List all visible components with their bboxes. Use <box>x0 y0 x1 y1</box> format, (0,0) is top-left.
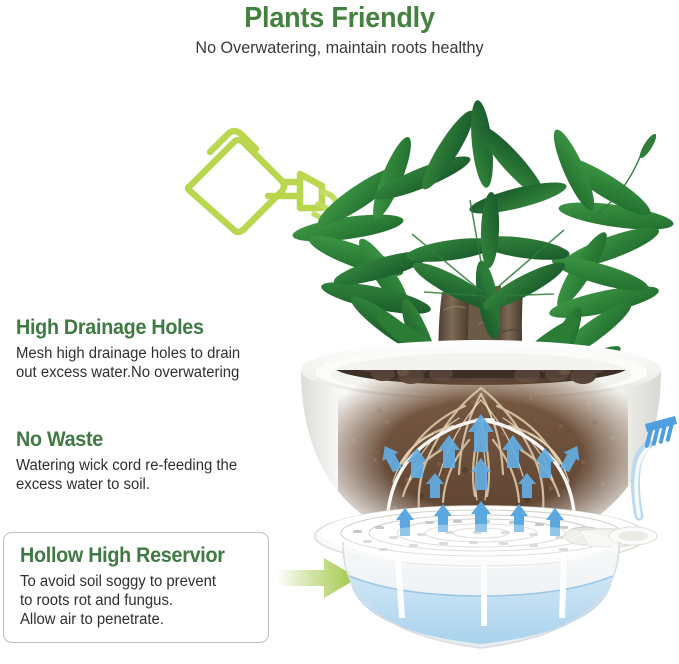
feature-body-line: Mesh high drainage holes to drain <box>16 345 240 362</box>
feature-heading-waste: No Waste <box>16 428 262 452</box>
feature-body-line: To avoid soil soggy to prevent <box>20 573 216 590</box>
feature-high-drainage-holes: High Drainage Holes Mesh high drainage h… <box>16 316 278 382</box>
self-watering-pot-diagram <box>283 330 679 664</box>
infographic-canvas: Plants Friendly No Overwatering, maintai… <box>0 0 679 664</box>
feature-body-waste: Watering wick cord re-feeding the excess… <box>16 456 268 494</box>
feature-heading-drainage: High Drainage Holes <box>16 316 262 340</box>
feature-body-drainage: Mesh high drainage holes to drain out ex… <box>16 344 268 382</box>
water-reservoir <box>343 524 619 648</box>
feature-body-line: out excess water.No overwatering <box>16 364 239 381</box>
page-subtitle: No Overwatering, maintain roots healthy <box>17 38 662 58</box>
feature-body-line: Watering wick cord re-feeding the <box>16 457 237 474</box>
feature-heading-reservior: Hollow High Reservior <box>20 544 253 568</box>
feature-body-line: Allow air to penetrate. <box>20 611 164 628</box>
feature-no-waste: No Waste Watering wick cord re-feeding t… <box>16 428 278 494</box>
feature-hollow-high-reservior: Hollow High Reservior To avoid soil sogg… <box>3 532 269 643</box>
page-title: Plants Friendly <box>24 2 655 35</box>
feature-body-line: to roots rot and fungus. <box>20 592 173 609</box>
feature-body-line: excess water to soil. <box>16 476 150 493</box>
feature-body-reservior: To avoid soil soggy to prevent to roots … <box>20 572 258 629</box>
